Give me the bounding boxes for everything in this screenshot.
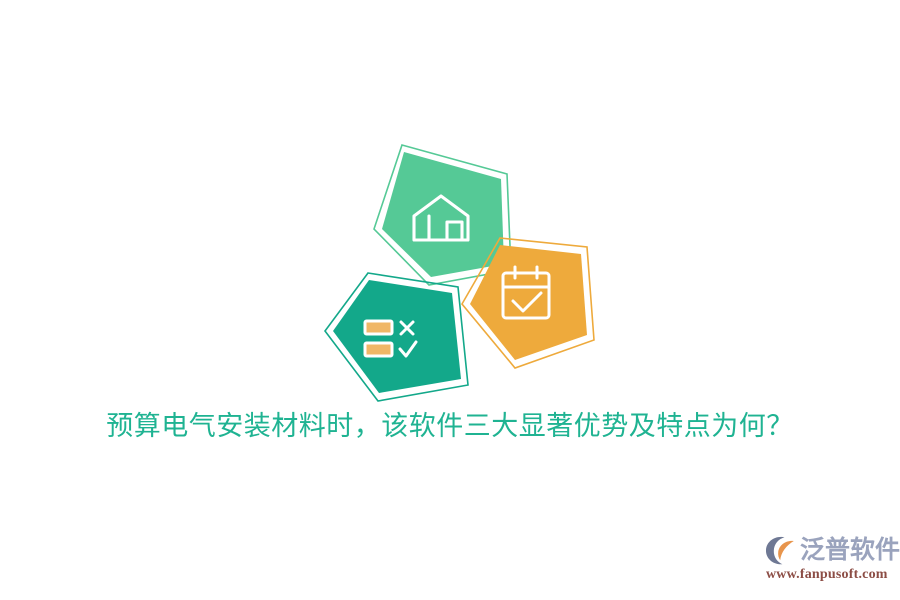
pentagon-checklist-body (333, 280, 461, 393)
pentagon-warehouse-body (382, 152, 504, 277)
checklist-row2-box (365, 343, 392, 356)
page-canvas: 预算电气安装材料时，该软件三大显著优势及特点为何？ 泛普软件 www.fanpu… (0, 0, 900, 600)
three-pentagon-feature-cluster (310, 130, 610, 410)
brand-name: 泛普软件 (800, 535, 900, 565)
page-title: 预算电气安装材料时，该软件三大显著优势及特点为何？ (0, 409, 900, 443)
fanpu-circle-mark-icon (764, 534, 798, 566)
checklist-row1-box (365, 321, 392, 334)
brand-logo-row: 泛普软件 (764, 532, 892, 568)
brand-url: www.fanpusoft.com (764, 567, 892, 583)
pentagon-checklist (325, 273, 468, 401)
brand-watermark: 泛普软件 www.fanpusoft.com (764, 532, 892, 588)
